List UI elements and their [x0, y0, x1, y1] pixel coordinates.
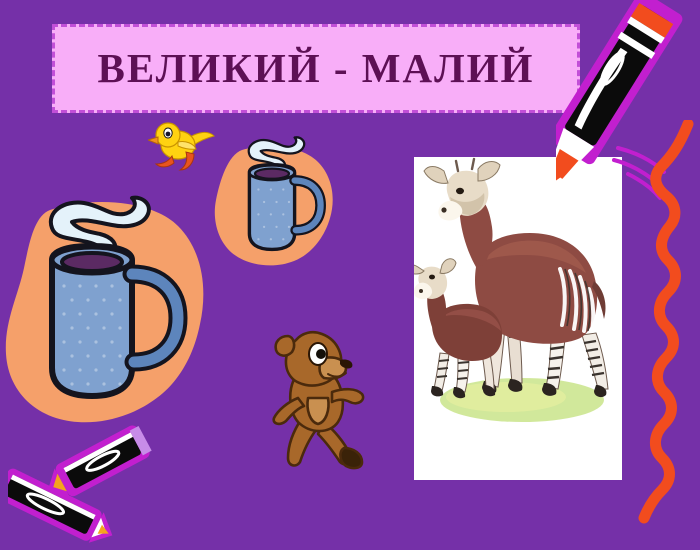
yellow-cartoon-bird	[148, 118, 218, 176]
orange-drawn-squiggle	[630, 120, 700, 530]
okapi-photo-card	[414, 157, 622, 480]
presentation-slide: ВЕЛИКИЙ - МАЛИЙ	[0, 0, 700, 550]
title-banner: ВЕЛИКИЙ - МАЛИЙ	[52, 24, 580, 113]
steaming-mug-large	[30, 190, 200, 420]
steaming-mug-small	[233, 133, 337, 263]
pair-of-crossed-crayons	[8, 424, 168, 550]
page-title: ВЕЛИКИЙ - МАЛИЙ	[98, 48, 535, 89]
walking-brown-bear	[266, 326, 370, 476]
